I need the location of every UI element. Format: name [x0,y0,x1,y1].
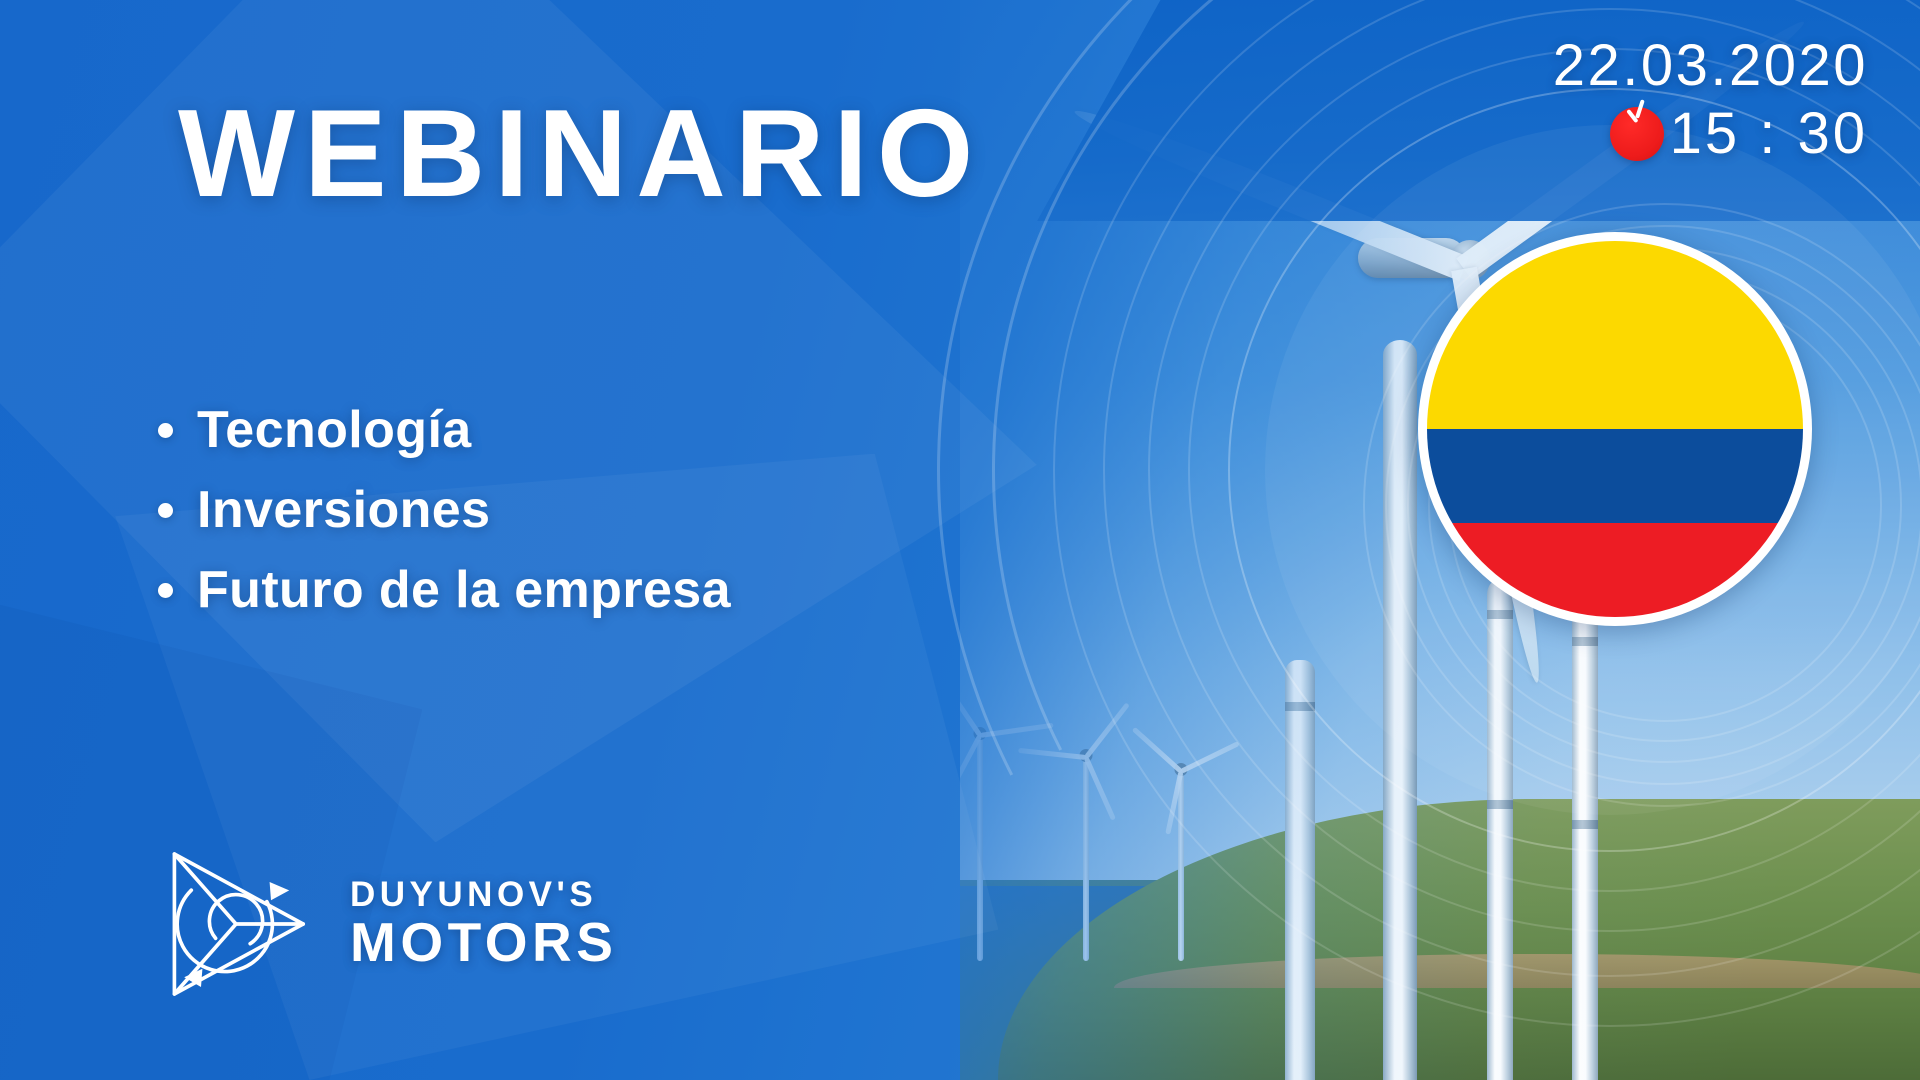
topic-label: Futuro de la empresa [197,560,731,620]
event-date: 22.03.2020 [1553,36,1868,95]
topic-label: Inversiones [197,480,490,540]
logo-line-1: DUYUNOV'S [350,877,617,913]
page-title: WEBINARIO [178,92,982,216]
topic-label: Tecnología [197,400,472,460]
list-item: Futuro de la empresa [158,560,731,620]
list-item: Tecnología [158,400,731,460]
webinar-banner: WEBINARIO Tecnología Inversiones Futuro … [0,0,1920,1080]
brand-logo-text: DUYUNOV'S MOTORS [350,877,617,971]
duyunov-rotor-mark-icon [152,840,320,1008]
bullet-dot-icon [158,503,173,518]
bullet-dot-icon [158,583,173,598]
logo-line-2: MOTORS [350,914,617,971]
colombia-flag-badge-icon [1418,232,1812,626]
list-item: Inversiones [158,480,731,540]
topic-list: Tecnología Inversiones Futuro de la empr… [158,400,731,640]
bullet-dot-icon [158,423,173,438]
flag-stripe-blue [1427,429,1803,523]
event-time: 15 : 30 [1670,105,1868,163]
clock-icon [1610,107,1664,161]
event-time-row: 15 : 30 [1553,105,1868,163]
schedule-block: 22.03.2020 15 : 30 [1553,36,1868,163]
brand-logo: DUYUNOV'S MOTORS [152,840,617,1008]
